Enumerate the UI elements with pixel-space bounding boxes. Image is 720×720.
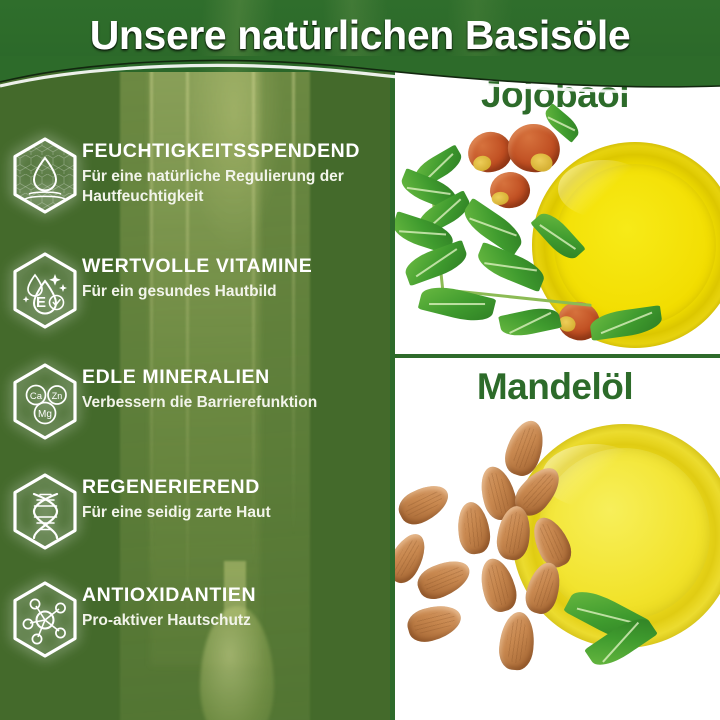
benefits-list: FEUCHTIGKEITSSPENDEND Für eine natürlich… [0, 66, 390, 720]
benefit-item-antioxidants[interactable]: ANTIOXIDANTIEN Pro-aktiver Hautschutz [8, 579, 390, 663]
jojoba-photo [390, 124, 720, 354]
almond-nut [475, 555, 521, 616]
jojoba-leaf [418, 281, 497, 326]
benefit-subtitle: Pro-aktiver Hautschutz [82, 611, 256, 630]
almond-nut [404, 600, 465, 647]
dna-helix-hexagon-icon [8, 471, 82, 555]
svg-text:Ca: Ca [30, 391, 43, 402]
svg-text:Mg: Mg [38, 409, 52, 420]
benefit-text-block: ANTIOXIDANTIEN Pro-aktiver Hautschutz [82, 579, 256, 631]
jojoba-berry-cap [471, 154, 492, 173]
benefit-subtitle: Für ein gesundes Hautbild [82, 282, 312, 301]
jojoba-berry-cap [491, 191, 509, 206]
vitamin-e-letter: E [36, 294, 46, 311]
almond-photo [390, 406, 720, 720]
benefit-subtitle: Für eine seidig zarte Haut [82, 503, 271, 522]
almond-nut [413, 553, 475, 604]
product-cards-column: Jojobaöl [390, 66, 720, 720]
header-banner: Unsere natürlichen Basisöle [0, 0, 720, 72]
benefit-item-moisturizing[interactable]: FEUCHTIGKEITSSPENDEND Für eine natürlich… [8, 135, 390, 219]
benefit-subtitle: Für eine natürliche Regulierung der Haut… [82, 167, 382, 206]
product-infographic-poster: Unsere natürlichen Basisöle [0, 0, 720, 720]
jojoba-berry [489, 170, 532, 209]
product-card-jojoba[interactable]: Jojobaöl [390, 66, 720, 354]
benefit-item-vitamins[interactable]: E WERTVOLLE VITAMINE Für ein gesundes Ha… [8, 250, 390, 334]
benefit-text-block: EDLE MINERALIEN Verbessern die Barrieref… [82, 361, 317, 413]
minerals-hexagon-icon: Ca Zn Mg [8, 361, 82, 445]
benefit-item-regenerating[interactable]: REGENERIEREND Für eine seidig zarte Haut [8, 471, 390, 555]
column-left-border [390, 66, 395, 720]
benefit-text-block: REGENERIEREND Für eine seidig zarte Haut [82, 471, 271, 523]
bowl-gloss-highlight [558, 160, 650, 218]
page-title: Unsere natürlichen Basisöle [0, 12, 720, 59]
water-drop-hexagon-icon [8, 135, 82, 219]
product-card-title: Mandelöl [390, 366, 720, 408]
benefit-text-block: FEUCHTIGKEITSSPENDEND Für eine natürlich… [82, 135, 382, 206]
almond-nut [497, 610, 537, 671]
almond-nut [394, 478, 455, 531]
molecule-hexagon-icon [8, 579, 82, 663]
product-card-title: Jojobaöl [390, 74, 720, 116]
benefit-title: ANTIOXIDANTIEN [82, 585, 256, 606]
benefits-panel: FEUCHTIGKEITSSPENDEND Für eine natürlich… [0, 66, 390, 720]
benefit-title: REGENERIEREND [82, 477, 271, 498]
benefit-title: WERTVOLLE VITAMINE [82, 256, 312, 277]
benefit-subtitle: Verbessern die Barrierefunktion [82, 393, 317, 412]
cards-divider [394, 354, 720, 358]
vitamin-drop-hexagon-icon: E [8, 250, 82, 334]
benefit-title: EDLE MINERALIEN [82, 367, 317, 388]
benefit-title: FEUCHTIGKEITSSPENDEND [82, 141, 382, 162]
svg-text:Zn: Zn [52, 391, 63, 401]
product-card-almond[interactable]: Mandelöl [390, 358, 720, 720]
benefit-text-block: WERTVOLLE VITAMINE Für ein gesundes Haut… [82, 250, 312, 302]
benefit-item-minerals[interactable]: Ca Zn Mg EDLE MINERALIEN Verbessern die … [8, 361, 390, 445]
jojoba-leaf [498, 304, 562, 340]
jojoba-berry-cap [529, 152, 554, 174]
